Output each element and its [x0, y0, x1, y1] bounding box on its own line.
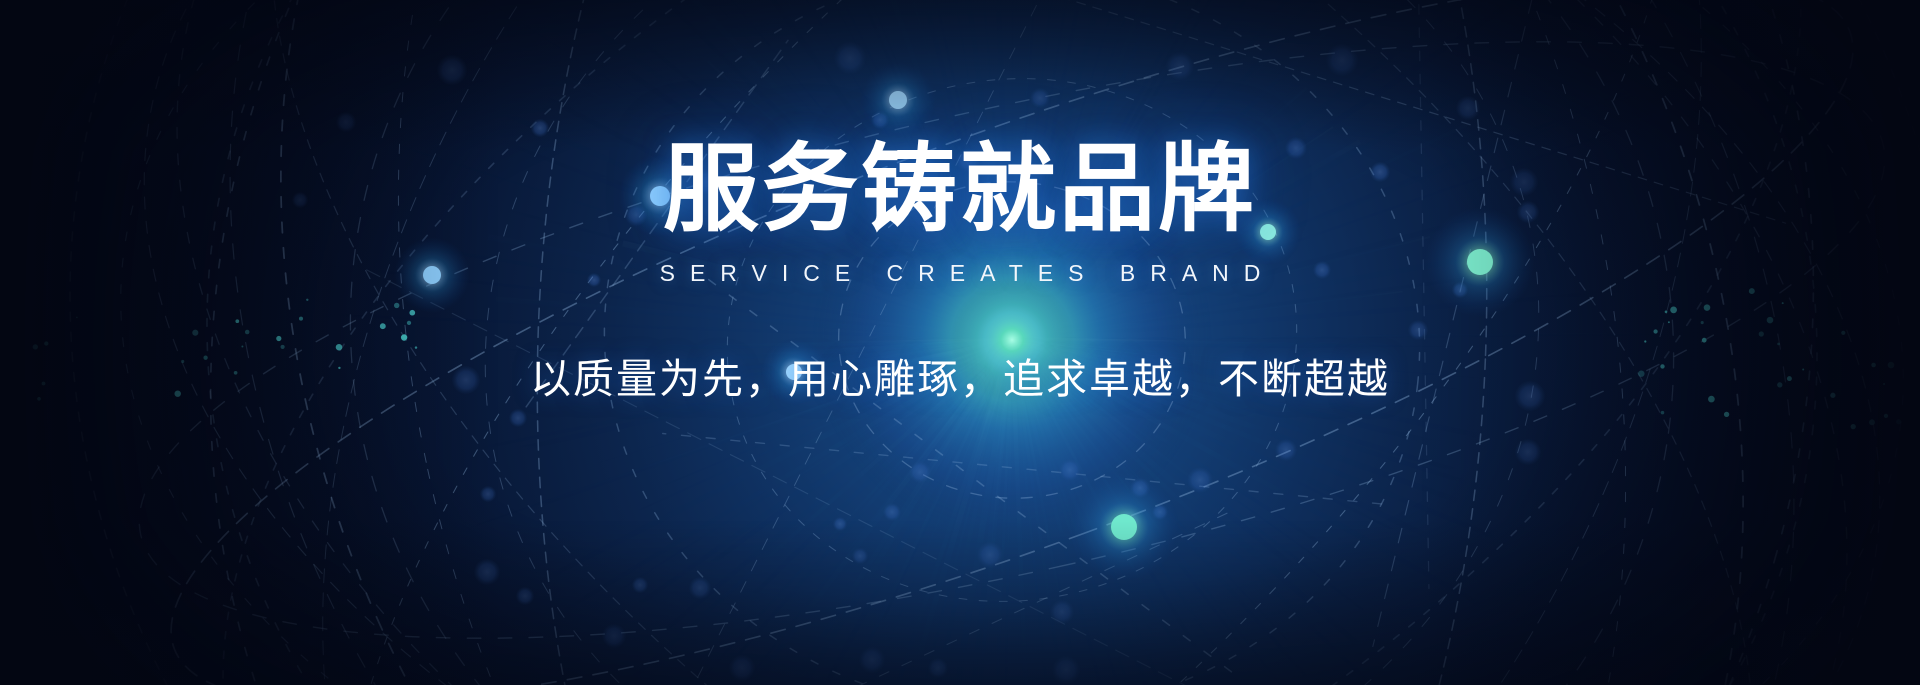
hero-banner: 服务铸就品牌 SERVICE CREATES BRAND 以质量为先，用心雕琢，…	[0, 0, 1920, 685]
banner-content: 服务铸就品牌 SERVICE CREATES BRAND 以质量为先，用心雕琢，…	[0, 0, 1920, 685]
banner-tagline: 以质量为先，用心雕琢，追求卓越，不断超越	[530, 345, 1390, 405]
banner-headline: 服务铸就品牌	[663, 142, 1257, 238]
banner-subtitle: SERVICE CREATES BRAND	[645, 260, 1276, 287]
